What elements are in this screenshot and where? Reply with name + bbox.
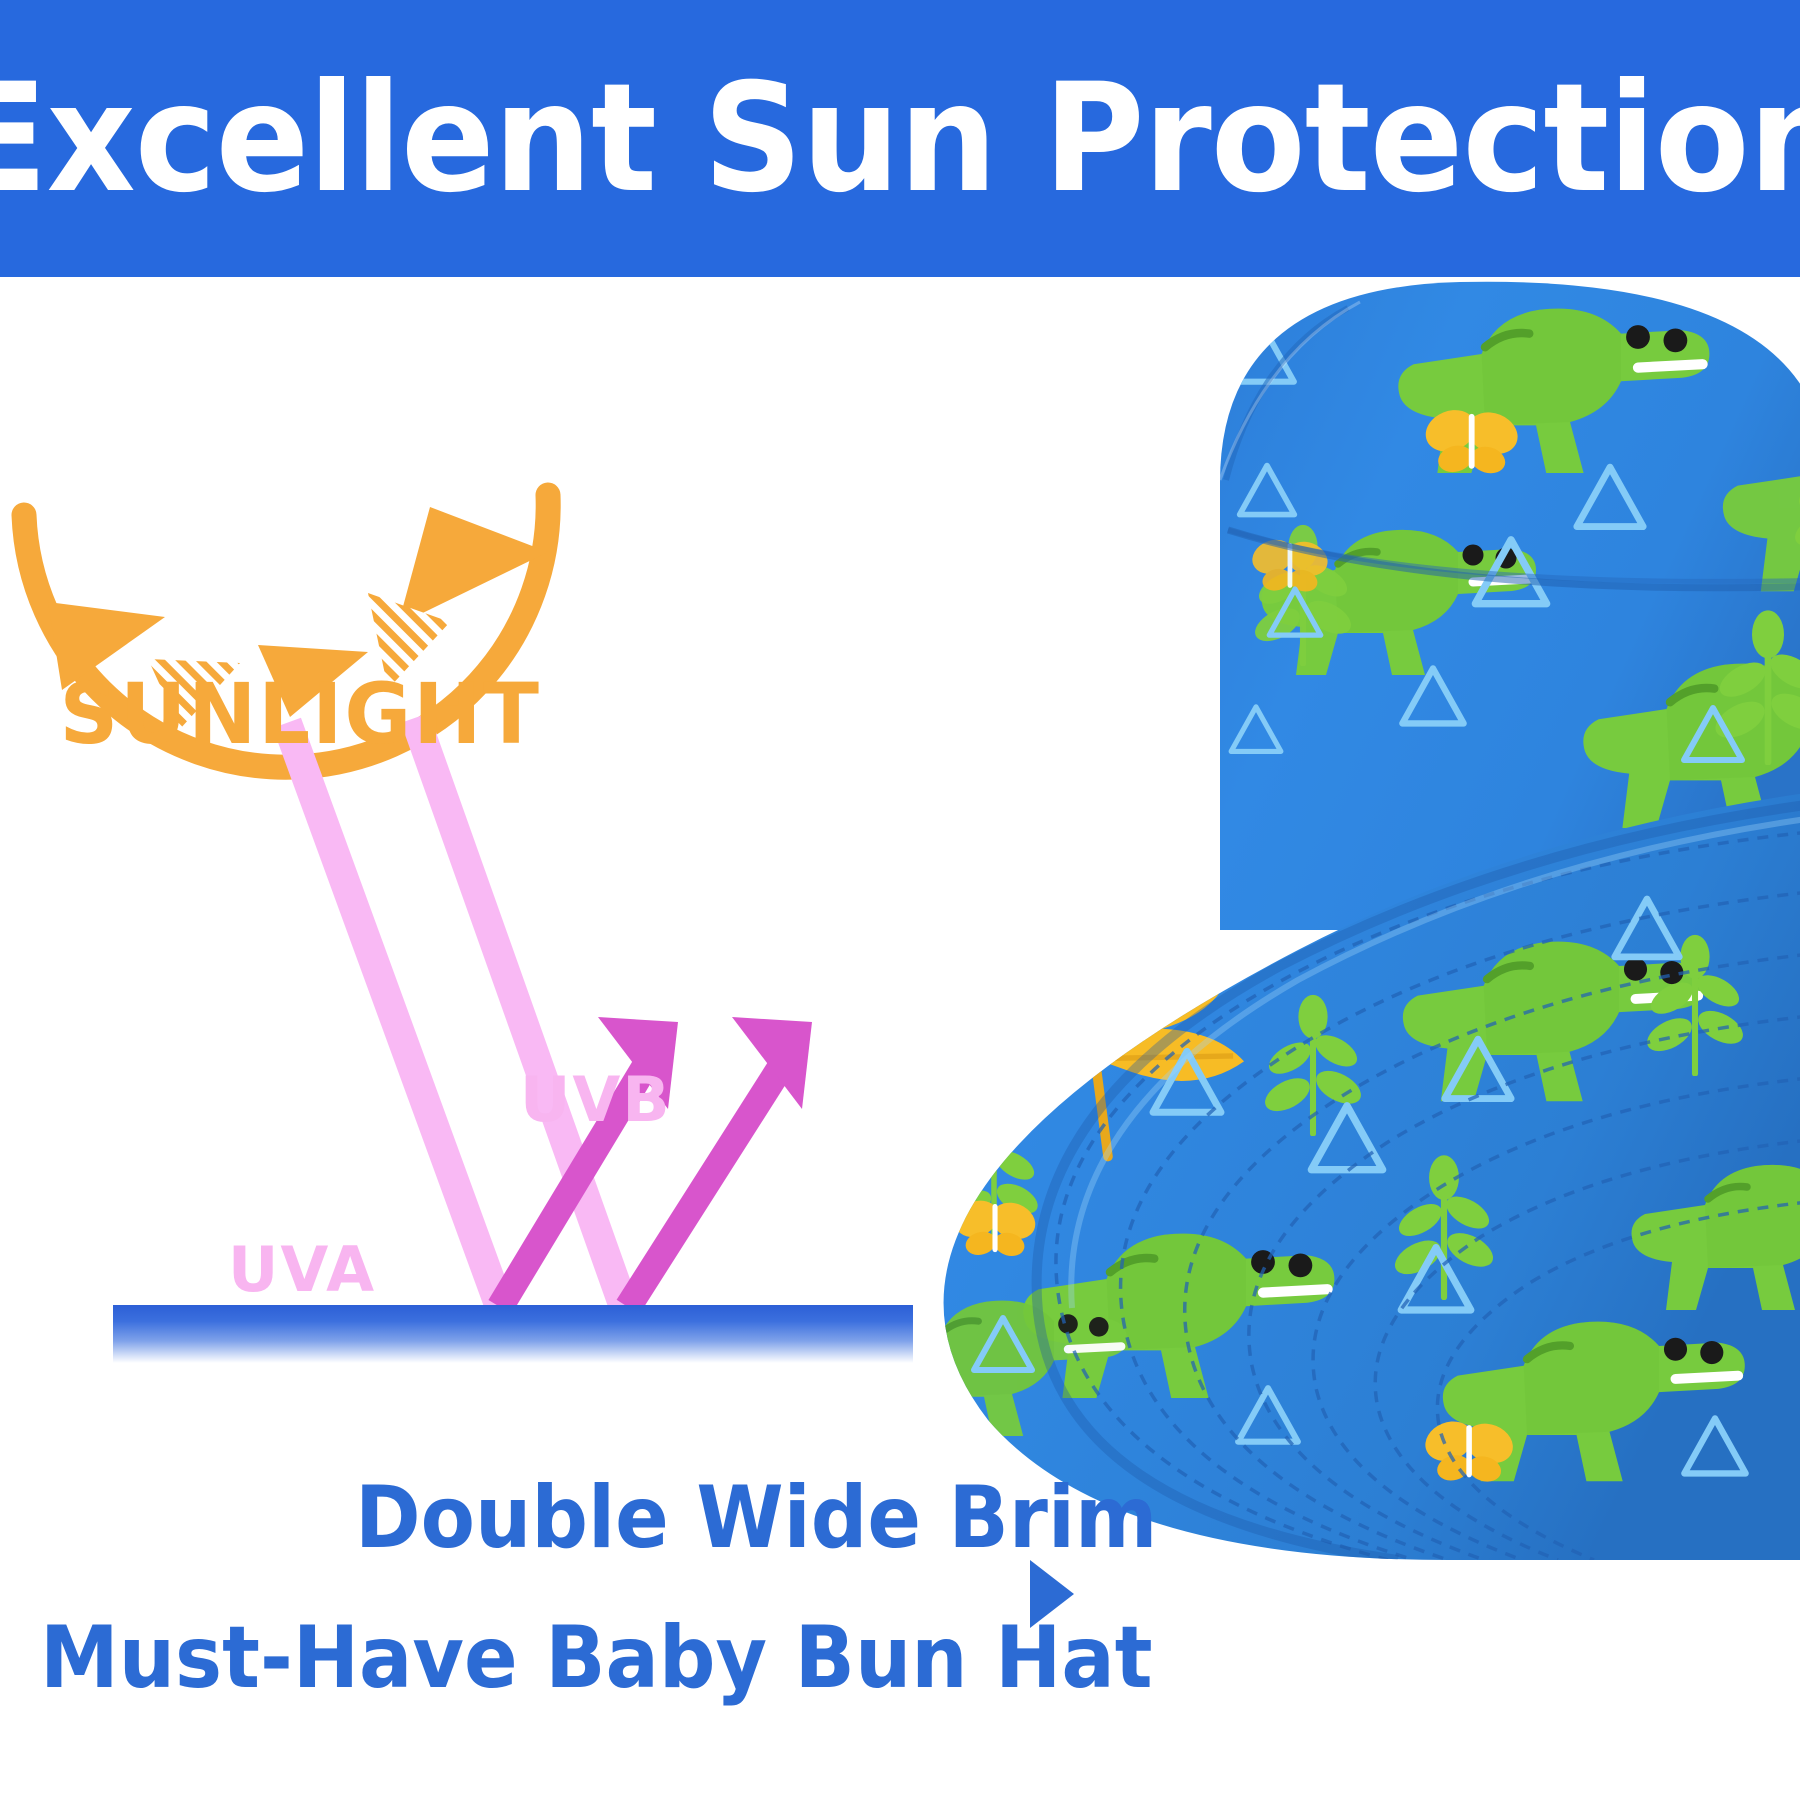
sunlight-label: SUNLIGHT <box>59 672 540 756</box>
play-triangle-icon <box>1030 1560 1074 1628</box>
uvb-label: UVB <box>520 1069 672 1131</box>
product-photo <box>828 230 1800 1560</box>
product-infographic: Excellent Sun Protection <box>0 0 1800 1800</box>
caption-block: Double Wide Brim Must-Have Baby Bun Hat <box>0 1435 1130 1755</box>
uva-label: UVA <box>228 1239 376 1301</box>
incoming-uv-ray-icon <box>292 737 500 1307</box>
caption-line-1: Double Wide Brim <box>355 1475 1157 1561</box>
incoming-uv-ray-icon <box>420 732 624 1307</box>
ground-surface-bar <box>113 1305 913 1363</box>
page-title: Excellent Sun Protection <box>0 64 1800 214</box>
caption-line-2: Must-Have Baby Bun Hat <box>40 1615 1153 1701</box>
